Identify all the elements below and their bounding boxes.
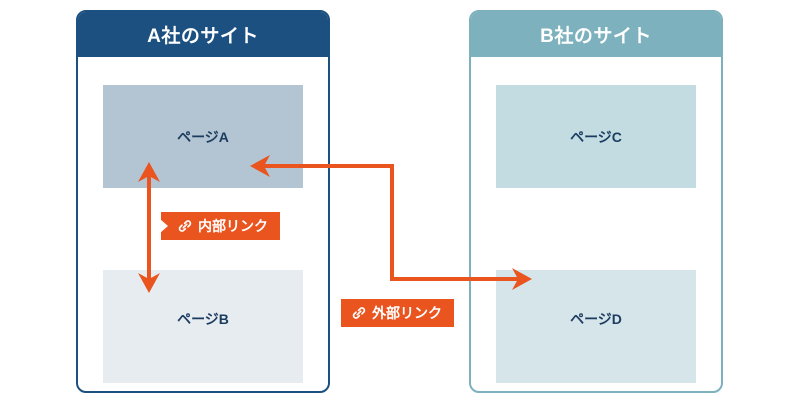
site-card-a: A社のサイト ページA ページB [76,10,330,393]
site-a-header: A社のサイト [78,12,328,57]
internal-link-badge[interactable]: 内部リンク [161,212,280,240]
site-b-body: ページC ページD [471,57,721,391]
page-box-d-label: ページD [570,309,622,329]
external-link-badge-label: 外部リンク [372,306,442,320]
page-box-b-label: ページB [177,309,229,329]
link-structure-diagram: A社のサイト ページA ページB B社のサイト ページC ページD [0,0,800,403]
site-card-b: B社のサイト ページC ページD [469,10,723,393]
chain-link-icon [351,305,367,321]
internal-link-badge-label: 内部リンク [198,219,268,233]
site-b-header: B社のサイト [471,12,721,57]
page-box-b: ページB [103,270,303,383]
external-link-badge[interactable]: 外部リンク [341,299,454,327]
chain-link-icon [177,218,193,234]
page-box-d: ページD [496,270,696,383]
page-box-c-label: ページC [570,127,622,147]
page-box-a-label: ページA [177,127,229,147]
page-box-a: ページA [103,85,303,188]
page-box-c: ページC [496,85,696,188]
